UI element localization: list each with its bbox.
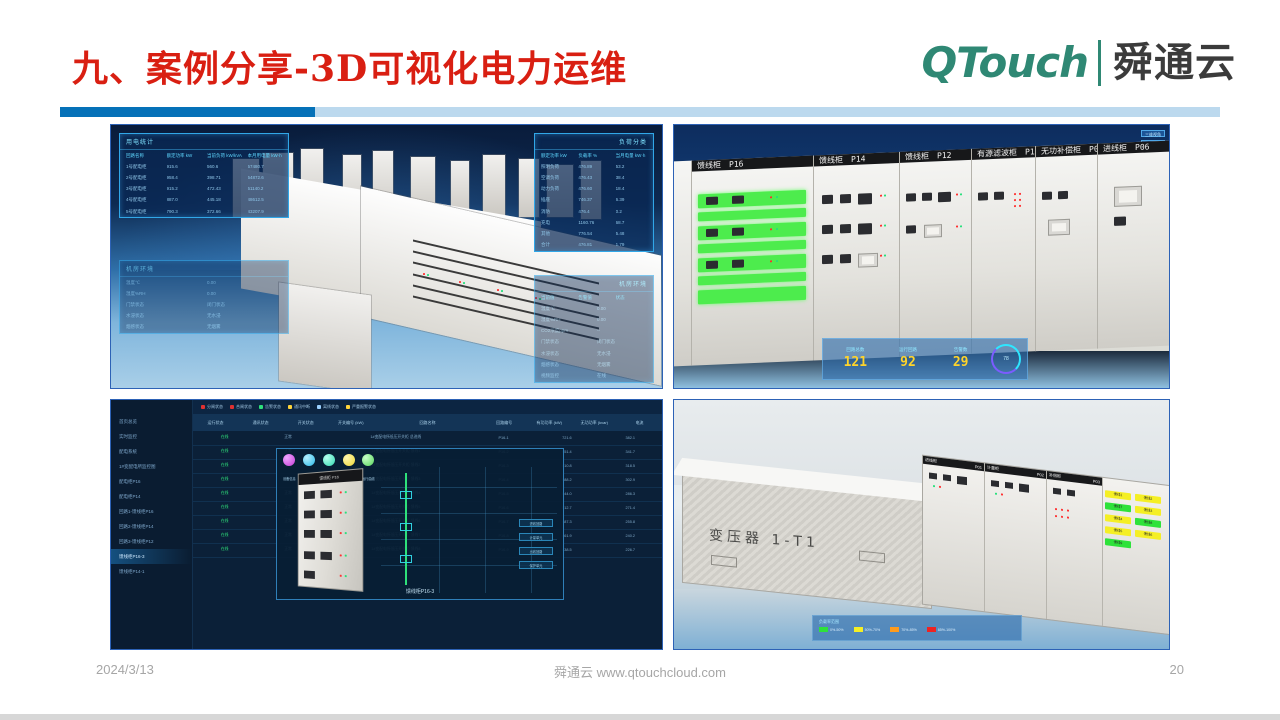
cell: 958.4 — [167, 175, 202, 181]
sidebar-item-circuit-1[interactable]: 回路1-馈线柜P16 — [111, 504, 192, 519]
bay-number: P12 — [937, 151, 951, 161]
view-toggle-3d-button[interactable]: 三维视角 — [1141, 130, 1165, 137]
shot-3d-substation-overview[interactable]: 用电统计 回路名称 额定功率 kW 当前负荷 kW/kVA 本月用电量 kW·h… — [110, 124, 663, 389]
diagram-tag[interactable]: 进线回路 — [519, 519, 553, 527]
hud-col: 当前值 — [541, 295, 572, 301]
cell: 6.39 — [616, 197, 647, 203]
hud-col: 当前负荷 kW/kVA — [207, 153, 242, 159]
sidebar-item-selected[interactable]: 馈线柜P16-3 — [111, 549, 192, 564]
bay-label: 馈线柜 — [905, 151, 929, 163]
bay-caption: 馈线柜 P12 — [900, 149, 971, 163]
load-rate-gauge: 78 — [991, 344, 1021, 374]
hud-col: 当月电量 kW·h — [616, 153, 647, 159]
cell: 382.1 — [599, 436, 662, 440]
bay-caption: 无功补偿柜 P08 — [1036, 144, 1097, 158]
cell-status: 在线 — [193, 463, 256, 468]
bay-caption: 进线柜 P06 — [1098, 141, 1170, 155]
cell-status: 在线 — [193, 491, 256, 496]
cell: 476.60 — [578, 186, 609, 192]
cell: 255.8 — [599, 520, 662, 524]
cell-status: 在线 — [193, 435, 256, 440]
hud-row: 温度℃ 0.00 — [120, 277, 288, 288]
sidebar-item-circuit-2[interactable]: 回路2-馈线柜P14 — [111, 519, 192, 534]
cell: 合计 — [541, 242, 572, 248]
hud-columns: 额定功率 kW 负载率 % 当月电量 kW·h — [535, 150, 653, 161]
cell: 门禁状态 — [541, 339, 591, 345]
cell: 正常 — [256, 435, 319, 440]
cell: 476.4 — [578, 209, 609, 215]
cell: 在线 — [597, 373, 647, 379]
hud-row: 湿度%RH 0.00 — [535, 314, 653, 325]
cell: CO2浓度ppm — [541, 328, 591, 334]
cell: 0.00 — [207, 280, 282, 286]
table-row[interactable]: 在线正常1#变配电所低压开关柜 总进线P16-1721.6382.1 — [193, 431, 662, 446]
cell: 5号配电柜 — [126, 209, 161, 215]
sidebar-item-cabinet-p14[interactable]: 配电柜P14 — [111, 489, 192, 504]
column-header: 回路名称 — [373, 420, 481, 425]
shot-monitoring-dashboard[interactable]: 首页总览 实时监控 配电系统 1#变配电所监控图 配电柜P16 配电柜P14 回… — [110, 399, 663, 650]
cell: 271.4 — [599, 506, 662, 510]
cell: 烟感状态 — [541, 362, 591, 368]
single-line-diagram: 进线回路 计量单元 出线回路 保护单元 — [381, 467, 557, 593]
column-header: 运行状态 — [193, 420, 238, 425]
cell: 湿度%RH — [541, 317, 591, 323]
bay-label: 进线柜 — [1103, 143, 1127, 155]
legend-label: 通讯中断 — [294, 404, 310, 410]
hud-row: 动力负荷 476.60 18.4 — [535, 184, 653, 195]
dashboard-sidebar[interactable]: 首页总览 实时监控 配电系统 1#变配电所监控图 配电柜P16 配电柜P14 回… — [111, 400, 193, 649]
tool-label: 运行曲线 — [362, 477, 375, 481]
cell: 57480.7 — [248, 164, 283, 170]
cell: 其他 — [541, 231, 572, 237]
status-legend-bar: 分闸状态 合闸状态 告警状态 通讯中断 离线状态 严重报警状态 — [193, 400, 662, 414]
cell: 318.5 — [599, 464, 662, 468]
column-header: 通讯状态 — [238, 420, 283, 425]
legend-label: 合闸状态 — [236, 404, 252, 410]
cell: 472.43 — [207, 186, 242, 192]
cell: 温度℃ — [126, 280, 201, 286]
column-header: 电流 — [617, 420, 662, 425]
sidebar-item-feeder-p14-1[interactable]: 馈线柜P14-1 — [111, 564, 192, 579]
hud-row: 其他 776.54 5.48 — [535, 228, 653, 239]
kpi-hud-bar[interactable]: 回路总数 121 运行回路 92 告警数 29 78 — [822, 338, 1028, 380]
title-underline — [60, 107, 1220, 117]
hud-row: 湿度%RH 0.00 — [120, 288, 288, 299]
kpi-alarm-count: 告警数 29 — [934, 347, 987, 371]
switchgear-bay-p16[interactable]: 馈线柜 P16 — [692, 156, 814, 366]
legend-label: 分闸状态 — [207, 404, 223, 410]
tool-device-info[interactable]: 设备信息 — [283, 454, 296, 485]
cabinet-3d-viewer[interactable]: 设备信息 实时数据 历史数据 告警记录 运行曲线 馈线柜 P16 — [276, 448, 564, 600]
bay-label: 计量柜 — [987, 465, 999, 472]
switchgear-bay-p14[interactable]: 馈线柜 P14 — [814, 152, 900, 361]
cell-status: 在线 — [193, 547, 256, 552]
bay-label: 无功补偿柜 — [1041, 145, 1081, 158]
hud-title: 用电统计 — [120, 134, 288, 150]
cell: 746.37 — [578, 197, 609, 203]
feeder-chip-yellow[interactable]: 馈线5 — [1105, 526, 1131, 536]
diagram-tag[interactable]: 出线回路 — [519, 547, 553, 555]
cell: 无烟雾 — [597, 362, 647, 368]
cell: 226.7 — [599, 548, 662, 552]
diagram-node[interactable] — [400, 555, 412, 563]
feeder-chip-yellow[interactable]: 馈线3 — [1135, 506, 1161, 516]
legend-item: 50%-70% — [854, 627, 881, 632]
hud-row: 1号配电柜 915.6 560.6 57480.7 — [120, 161, 288, 172]
hud-panel-power-stats[interactable]: 用电统计 回路名称 额定功率 kW 当前负荷 kW/kVA 本月用电量 kW·h… — [119, 133, 289, 218]
switchgear-bay[interactable] — [673, 161, 692, 367]
bay-number: P16 — [729, 160, 743, 170]
bay-label: 补偿柜 — [1049, 472, 1061, 479]
legend-label: 85%-100% — [938, 628, 956, 632]
hud-row: 4号配电柜 887.0 445.18 48612.5 — [120, 195, 288, 206]
hud-panel-room-environment-secondary[interactable]: 机房环境 当前值 告警值 状态 温度℃ 0.00 湿度%RH 0.00 CO2浓… — [534, 275, 654, 383]
cell: 2号配电柜 — [126, 175, 161, 181]
hud-row: 3号配电柜 915.2 472.43 51140.2 — [120, 184, 288, 195]
feeder-chip-green[interactable]: 馈线7 — [1105, 502, 1131, 512]
cell: 消防 — [541, 209, 572, 215]
hud-col: 告警值 — [578, 295, 609, 301]
cell: 721.6 — [535, 436, 598, 440]
cell: 0.2 — [616, 209, 647, 215]
logo-wordmark: QTouch — [922, 42, 1089, 84]
footer-rule — [0, 714, 1280, 720]
legend-label: 严重报警状态 — [352, 404, 376, 410]
column-header: 回路编号 — [482, 420, 527, 425]
legend-item: 85%-100% — [927, 627, 956, 632]
lv-bay-p02[interactable]: 计量柜 P02 — [985, 463, 1047, 619]
transformer-label: 变压器 1-T1 — [709, 525, 819, 553]
hud-row: 消防 476.4 0.2 — [535, 206, 653, 217]
hud-col: 额定功率 kW — [167, 153, 202, 159]
hud-columns: 当前值 告警值 状态 — [535, 292, 653, 303]
cell: 闭门状态 — [597, 339, 647, 345]
hud-row: 照明负荷 476.89 53.2 — [535, 161, 653, 172]
switchgear-lineup: 馈线柜 P16 — [673, 141, 1170, 368]
legend-row: 0%-50% 50%-70% 70%-85% 85%-100% — [819, 627, 1015, 632]
bay-label: 馈线柜 — [697, 160, 721, 172]
hud-row: 空调负荷 476.43 38.4 — [535, 172, 653, 183]
bay-number: P08 — [1089, 145, 1097, 155]
cell: 温度℃ — [541, 306, 591, 312]
tool-label: 设备信息 — [283, 477, 296, 481]
cell: 476.43 — [578, 175, 609, 181]
logo-name-cn: 舜通云 — [1113, 43, 1236, 83]
hud-row: 插座 746.37 6.39 — [535, 195, 653, 206]
bay-number: P01 — [975, 464, 982, 470]
switchgear-bay-p12[interactable]: 馈线柜 P12 — [900, 149, 972, 357]
hud-title: 机房环境 — [535, 276, 653, 292]
cell: 915.6 — [167, 164, 202, 170]
diagram-tag[interactable]: 计量单元 — [519, 533, 553, 541]
cell: 充电 — [541, 220, 572, 226]
hud-row: 充电 1160.76 68.7 — [535, 217, 653, 228]
cell: 302.9 — [599, 478, 662, 482]
cell: 53.2 — [616, 164, 647, 170]
hud-row: 水浸状态 无水浸 — [120, 311, 288, 322]
gauge-value: 78 — [1003, 356, 1009, 362]
load-rate-legend: 负载率范围 0%-50% 50%-70% 70%-85% 85%-100% — [812, 615, 1022, 641]
cell-status: 在线 — [193, 477, 256, 482]
cell: 1160.76 — [578, 220, 609, 226]
hud-row: 门禁状态 闭门状态 — [120, 299, 288, 310]
cell: 51140.2 — [248, 186, 283, 192]
hud-row: 5号配电柜 790.3 372.66 43207.9 — [120, 206, 288, 217]
kpi-label: 告警数 — [934, 347, 987, 353]
diagram-node[interactable] — [400, 523, 412, 531]
cell: 560.6 — [207, 164, 242, 170]
cell: P16-1 — [472, 436, 535, 440]
sidebar-item-distribution[interactable]: 配电系统 — [111, 444, 192, 459]
bay-number: P03 — [1093, 478, 1100, 484]
cell: 无水浸 — [597, 351, 647, 357]
legend-item: 合闸状态 — [230, 404, 252, 410]
diagram-tag[interactable]: 保护单元 — [519, 561, 553, 569]
legend-label: 离线状态 — [323, 404, 339, 410]
legend-title: 负载率范围 — [819, 619, 1015, 625]
transformer-vent — [859, 550, 885, 563]
logo-divider-icon — [1098, 40, 1101, 86]
scene-block — [483, 155, 505, 217]
legend-item: 通讯中断 — [288, 404, 310, 410]
hud-row: CO2浓度ppm -- — [535, 326, 653, 337]
cell: 54872.6 — [248, 175, 283, 181]
bay-caption: 馈线柜 P14 — [814, 152, 899, 167]
hud-row: 温度℃ 0.00 — [535, 303, 653, 314]
hud-row: 合计 476.81 1.79 — [535, 240, 653, 251]
cell: 水浸状态 — [126, 313, 201, 319]
kpi-value: 121 — [844, 355, 867, 370]
legend-label: 70%-85% — [901, 628, 917, 632]
legend-item: 离线状态 — [317, 404, 339, 410]
cell: 68.7 — [616, 220, 647, 226]
page-title: 九、案例分享-3D可视化电力运维 — [72, 40, 627, 92]
bay-label: 有源滤波柜 — [977, 147, 1017, 160]
cell: 915.2 — [167, 186, 202, 192]
cell-status: 在线 — [193, 533, 256, 538]
cell: 5.48 — [616, 231, 647, 237]
cell: 398.71 — [207, 175, 242, 181]
cell: 48612.5 — [248, 197, 283, 203]
column-header: 开关状态 — [283, 420, 328, 425]
legend-label: 50%-70% — [865, 628, 881, 632]
diagram-node[interactable] — [400, 491, 412, 499]
legend-item: 告警状态 — [259, 404, 281, 410]
hud-col: 负载率 % — [578, 153, 609, 159]
table-header: 运行状态 通讯状态 开关状态 开关编号 (kW) 回路名称 回路编号 有功功率 … — [193, 414, 662, 431]
column-header: 开关编号 (kW) — [328, 420, 373, 425]
hud-panel-load-classification[interactable]: 负荷分类 额定功率 kW 负载率 % 当月电量 kW·h 照明负荷 476.89… — [534, 133, 654, 252]
legend-label: 告警状态 — [265, 404, 281, 410]
cell: 湿度%RH — [126, 291, 201, 297]
cell: 286.3 — [599, 492, 662, 496]
bay-caption: 有源滤波柜 P10 — [972, 147, 1035, 161]
feeder-chip-yellow[interactable]: 馈线4 — [1105, 514, 1131, 524]
switchgear-bay-p08[interactable]: 无功补偿柜 P08 — [1036, 144, 1098, 352]
kpi-value: 29 — [953, 355, 969, 370]
hud-col: 状态 — [616, 295, 647, 301]
cell: 1.79 — [616, 242, 647, 248]
sidebar-item-realtime[interactable]: 实时监控 — [111, 429, 192, 444]
cell: 闭门状态 — [207, 302, 282, 308]
cell: 烟感状态 — [126, 324, 201, 330]
bay-number: P06 — [1135, 143, 1149, 153]
cell: 4号配电柜 — [126, 197, 161, 203]
cell-status: 在线 — [193, 449, 256, 454]
slide-footer: 2024/3/13 舜通云 www.qtouchcloud.com 20 — [0, 650, 1280, 720]
cell: 476.81 — [578, 242, 609, 248]
bay-number: P14 — [851, 155, 865, 165]
cell: 无水浸 — [207, 313, 282, 319]
hud-col: 额定功率 kW — [541, 153, 572, 159]
feeder-chip-green[interactable]: 馈线9 — [1105, 538, 1131, 548]
legend-item: 分闸状态 — [201, 404, 223, 410]
bay-label: 馈线柜 — [819, 155, 843, 167]
kpi-label: 运行回路 — [882, 347, 935, 353]
cell: 790.3 — [167, 209, 202, 215]
cell: 372.66 — [207, 209, 242, 215]
kpi-total-circuits: 回路总数 121 — [829, 347, 882, 371]
legend-label: 0%-50% — [830, 628, 844, 632]
hud-row: 烟感状态 无烟雾 — [120, 322, 288, 333]
cell: 水浸状态 — [541, 351, 591, 357]
hud-col: 回路名称 — [126, 153, 161, 159]
lv-bay-p03[interactable]: 补偿柜 P03 — [1047, 471, 1103, 626]
sidebar-item-substation-diagram[interactable]: 1#变配电所监控图 — [111, 459, 192, 474]
sidebar-item-home[interactable]: 首页总览 — [111, 414, 192, 429]
tool-run-curve[interactable]: 运行曲线 — [362, 454, 375, 485]
cell: 无烟雾 — [207, 324, 282, 330]
lv-bay-p01[interactable]: 进线柜 P01 — [923, 456, 985, 612]
hud-title: 机房环境 — [120, 261, 288, 277]
hud-panel-room-environment[interactable]: 机房环境 温度℃ 0.00 湿度%RH 0.00 门禁状态 闭门状态 水浸状态 … — [119, 260, 289, 334]
cell-status: 在线 — [193, 519, 256, 524]
hud-title: 负荷分类 — [535, 134, 653, 150]
legend-item: 0%-50% — [819, 627, 844, 632]
kpi-value: 92 — [900, 355, 916, 370]
shot-switchgear-closeup[interactable]: 三维视角 设备列表 馈线柜 P16 — [673, 124, 1170, 389]
bay-number: P02 — [1037, 471, 1044, 477]
sidebar-item-cabinet-p16[interactable]: 配电柜P16 — [111, 474, 192, 489]
bay-number: P10 — [1025, 147, 1035, 157]
feeder-chip-yellow[interactable]: 馈线1 — [1105, 490, 1131, 500]
hud-row: 视频监控 在线 — [535, 370, 653, 381]
cell: 38.4 — [616, 175, 647, 181]
cell: 照明负荷 — [541, 164, 572, 170]
cell: 0.00 — [597, 317, 647, 323]
cell: 1号配电柜 — [126, 164, 161, 170]
feeder-chip-yellow[interactable]: 馈线6 — [1135, 530, 1161, 540]
cell: 动力负荷 — [541, 186, 572, 192]
cell: -- — [597, 328, 647, 334]
hud-row: 2号配电柜 958.4 398.71 54872.6 — [120, 172, 288, 183]
feeder-chip-green[interactable]: 馈线8 — [1135, 518, 1161, 528]
sidebar-item-circuit-3[interactable]: 回路3-馈线柜P12 — [111, 534, 192, 549]
kpi-label: 回路总数 — [829, 347, 882, 353]
column-header: 有功功率 (kW) — [527, 420, 572, 425]
brand-logo: QTouch 舜通云 — [922, 36, 1237, 90]
hud-row: 水浸状态 无水浸 — [535, 348, 653, 359]
cell: 0.00 — [207, 291, 282, 297]
switchgear-bay-p06[interactable]: 进线柜 P06 — [1098, 141, 1170, 349]
transformer-vent — [711, 555, 737, 568]
cell: 空调负荷 — [541, 175, 572, 181]
cell: 3号配电柜 — [126, 186, 161, 192]
hud-row: 门禁状态 闭门状态 — [535, 337, 653, 348]
viewer-caption: 馈线柜P16-3 — [277, 588, 563, 595]
cell: 视频监控 — [541, 373, 591, 379]
hud-col: 本月用电量 kW·h — [248, 153, 283, 159]
scene-foreground-block — [279, 283, 371, 389]
cell: 445.18 — [207, 197, 242, 203]
footer-page-number: 20 — [1170, 662, 1184, 677]
cell: 插座 — [541, 197, 572, 203]
feeder-chip-yellow[interactable]: 馈线2 — [1135, 494, 1161, 504]
cell: 341.7 — [599, 450, 662, 454]
column-header: 无功功率 (kvar) — [572, 420, 617, 425]
footer-site: 舜通云 www.qtouchcloud.com — [0, 662, 1280, 681]
cell: 43207.9 — [248, 209, 283, 215]
cell: 18.4 — [616, 186, 647, 192]
hud-row: 烟感状态 无烟雾 — [535, 359, 653, 370]
cell: 476.89 — [578, 164, 609, 170]
cell: 0.00 — [597, 306, 647, 312]
kpi-running-circuits: 运行回路 92 — [882, 347, 935, 371]
cell: 240.2 — [599, 534, 662, 538]
cell-status: 在线 — [193, 505, 256, 510]
cell: 门禁状态 — [126, 302, 201, 308]
switchgear-bay-p10[interactable]: 有源滤波柜 P10 — [972, 146, 1036, 354]
legend-item: 严重报警状态 — [346, 404, 376, 410]
lv-switchgear-lineup[interactable]: 进线柜 P01 计量柜 P02 — [922, 455, 1170, 636]
cell: 1#变配电所低压开关柜 总进线 — [320, 435, 472, 440]
screenshot-grid: 用电统计 回路名称 额定功率 kW 当前负荷 kW/kVA 本月用电量 kW·h… — [110, 124, 1170, 650]
cabinet-3d-model[interactable]: 馈线柜 P16 — [298, 468, 364, 592]
cell: 887.0 — [167, 197, 202, 203]
shot-transformer-scene[interactable]: 变压器 1-T1 进线柜 P01 计量柜 P02 — [673, 399, 1170, 650]
cell: 776.54 — [578, 231, 609, 237]
hud-columns: 回路名称 额定功率 kW 当前负荷 kW/kVA 本月用电量 kW·h — [120, 150, 288, 161]
bay-label: 进线柜 — [925, 457, 937, 464]
legend-item: 70%-85% — [890, 627, 917, 632]
